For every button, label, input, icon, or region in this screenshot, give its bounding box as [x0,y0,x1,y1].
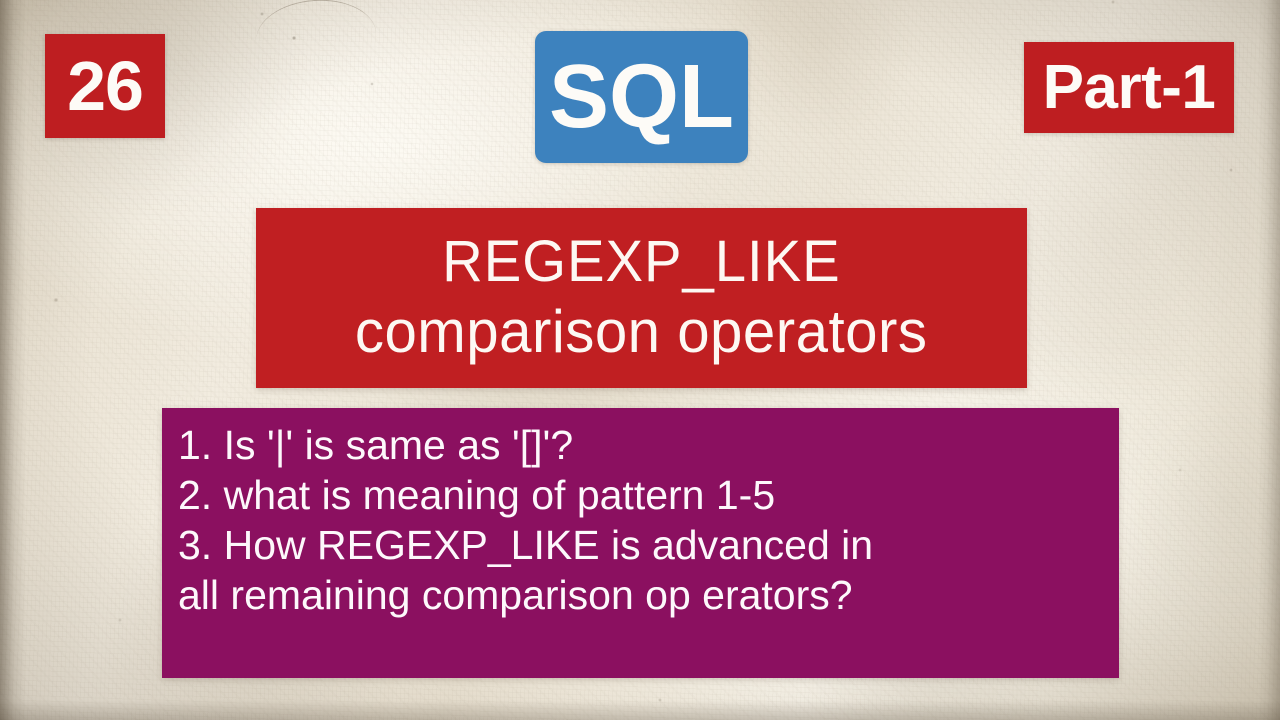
question-line-4: all remaining comparison op erators? [178,570,1103,620]
question-line-2: 2. what is meaning of pattern 1-5 [178,470,1103,520]
question-line-3: 3. How REGEXP_LIKE is advanced in [178,520,1103,570]
part-number-badge: Part-1 [1024,42,1234,133]
right-edge-shadow [1258,0,1280,720]
bottom-edge-shadow [0,700,1280,720]
episode-number-badge: 26 [45,34,165,138]
left-edge-shadow [0,0,26,720]
sql-topic-badge: SQL [535,31,748,163]
questions-panel: 1. Is '|' is same as '[]'? 2. what is me… [162,408,1119,678]
title-line-secondary: comparison operators [355,300,928,365]
question-line-1: 1. Is '|' is same as '[]'? [178,420,1103,470]
title-panel: REGEXP_LIKE comparison operators [256,208,1027,388]
slide-canvas: 26 SQL Part-1 REGEXP_LIKE comparison ope… [0,0,1280,720]
title-line-primary: REGEXP_LIKE [442,231,840,294]
